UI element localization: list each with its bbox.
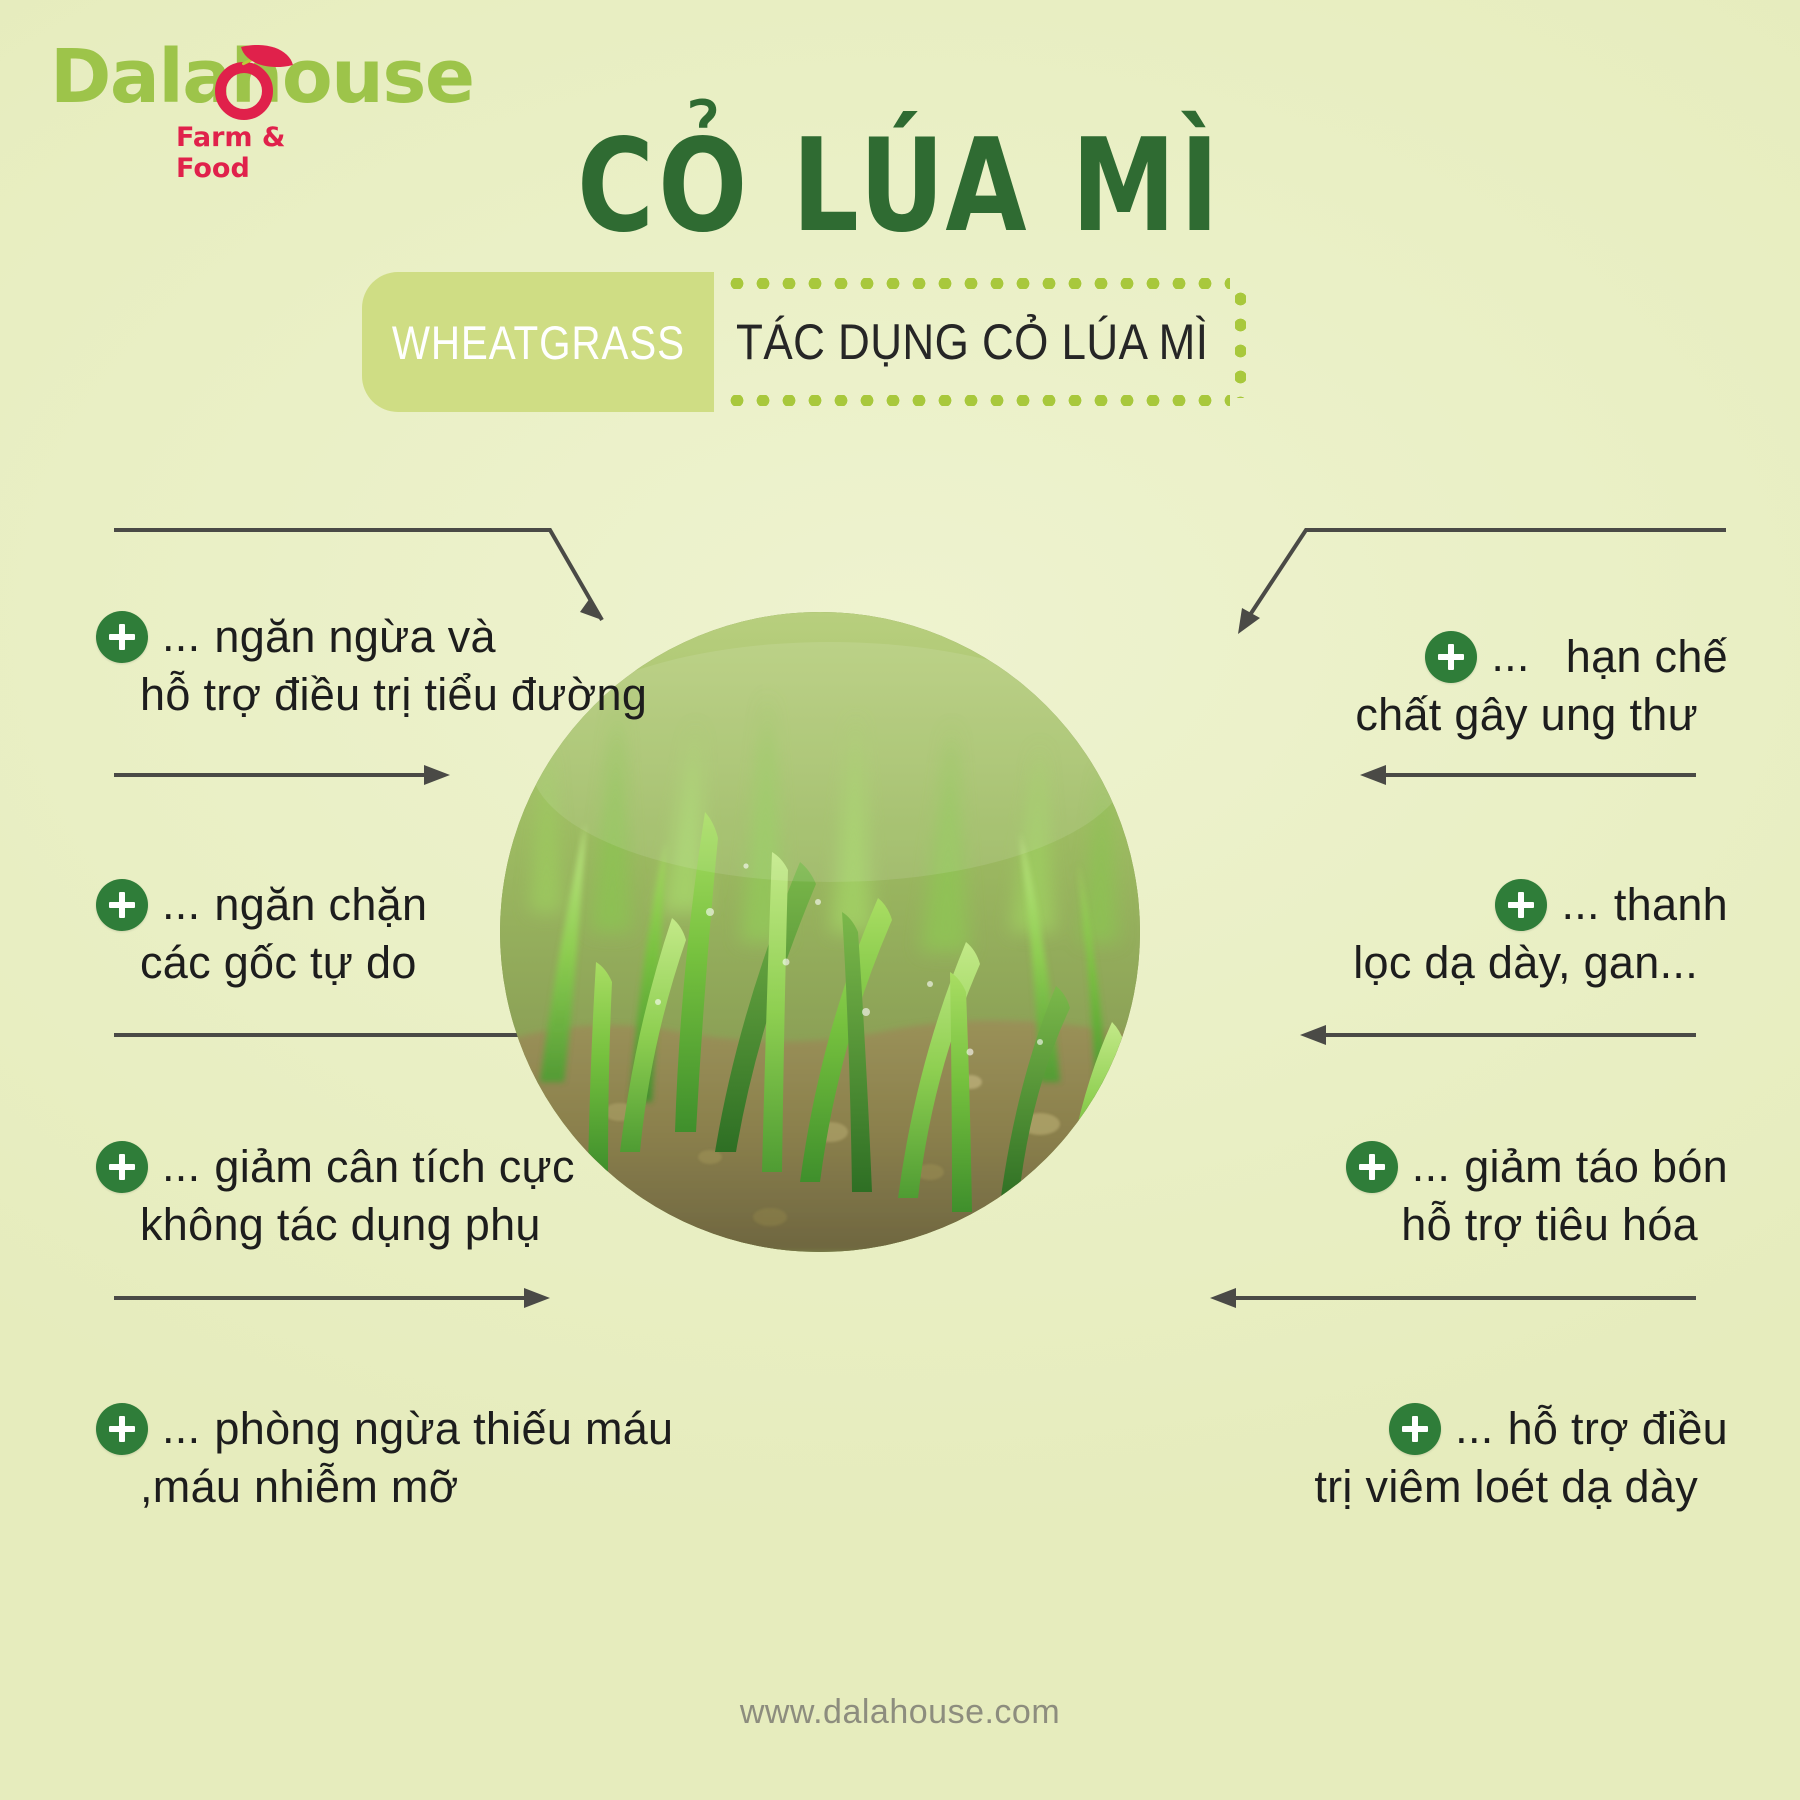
benefit-right-2-marker: ... xyxy=(1561,892,1599,917)
benefit-right-3: ... giảm táo bón hỗ trợ tiêu hóa xyxy=(1108,1138,1728,1253)
benefit-left-4-text1: phòng ngừa thiếu máu xyxy=(214,1400,673,1458)
benefit-right-1: ... hạn chế chất gây ung thư xyxy=(1108,628,1728,743)
benefit-right-4-line1: ... hỗ trợ điều xyxy=(1108,1400,1728,1458)
benefit-left-1-marker: ... xyxy=(162,624,200,649)
benefit-left-1-text1: ngăn ngừa và xyxy=(214,608,495,666)
plus-icon xyxy=(1495,879,1547,931)
connector-right-2 xyxy=(1340,745,1700,805)
benefit-left-1: ... ngăn ngừa và hỗ trợ điều trị tiểu đư… xyxy=(96,608,716,723)
plus-icon xyxy=(96,1403,148,1455)
benefit-left-2-marker: ... xyxy=(162,892,200,917)
plus-icon xyxy=(96,1141,148,1193)
plus-icon xyxy=(1389,1403,1441,1455)
benefit-right-1-text1: hạn chế xyxy=(1544,628,1728,686)
benefit-left-4-marker: ... xyxy=(162,1416,200,1441)
infographic-poster: Dalahouse Farm & Food CỎ LÚA MÌ TÁC DỤNG… xyxy=(0,0,1800,1800)
benefit-right-3-text2: hỗ trợ tiêu hóa xyxy=(1108,1196,1728,1254)
benefit-right-2-line1: ... thanh xyxy=(1108,876,1728,934)
connector-left-3 xyxy=(110,1005,570,1065)
subtitle-dotted-frame: TÁC DỤNG CỎ LÚA MÌ xyxy=(714,272,1252,412)
benefit-right-2-text1: thanh xyxy=(1614,876,1728,934)
benefit-left-4-text2: ,máu nhiễm mỡ xyxy=(96,1458,716,1516)
connector-left-4 xyxy=(110,1268,570,1328)
connector-right-3 xyxy=(1280,1005,1700,1065)
benefit-right-4: ... hỗ trợ điều trị viêm loét dạ dày xyxy=(1108,1400,1728,1515)
apple-icon xyxy=(215,62,273,120)
benefit-right-4-marker: ... xyxy=(1455,1416,1493,1441)
subtitle-text: TÁC DỤNG CỎ LÚA MÌ xyxy=(736,272,1208,412)
benefit-left-2-text1: ngăn chặn xyxy=(214,876,427,934)
plus-icon xyxy=(1346,1141,1398,1193)
footer-website[interactable]: www.dalahouse.com xyxy=(0,1693,1800,1732)
benefit-left-2-line1: ... ngăn chặn xyxy=(96,876,716,934)
benefit-right-2: ... thanh lọc dạ dày, gan... xyxy=(1108,876,1728,991)
plus-icon xyxy=(96,611,148,663)
benefit-right-4-text1: hỗ trợ điều xyxy=(1508,1400,1728,1458)
page-title: CỎ LÚA MÌ xyxy=(162,118,1638,256)
benefit-right-3-marker: ... xyxy=(1412,1154,1450,1179)
benefit-left-4: ... phòng ngừa thiếu máu ,máu nhiễm mỡ xyxy=(96,1400,716,1515)
plus-icon xyxy=(1425,631,1477,683)
wheatgrass-badge-label: WHEATGRASS xyxy=(391,315,684,370)
connector-left-2 xyxy=(110,745,470,805)
benefit-right-2-text2: lọc dạ dày, gan... xyxy=(1108,934,1728,992)
wheatgrass-badge: WHEATGRASS xyxy=(362,272,714,412)
plus-icon xyxy=(96,879,148,931)
benefit-left-1-text2: hỗ trợ điều trị tiểu đường xyxy=(96,666,716,724)
benefit-left-3-text1: giảm cân tích cực xyxy=(214,1138,574,1196)
benefit-left-2: ... ngăn chặn các gốc tự do xyxy=(96,876,716,991)
benefit-right-3-text1: giảm táo bón xyxy=(1464,1138,1728,1196)
benefit-left-3-text2: không tác dụng phụ xyxy=(96,1196,716,1254)
connector-right-4 xyxy=(1190,1268,1700,1328)
benefit-left-1-line1: ... ngăn ngừa và xyxy=(96,608,716,666)
benefit-left-3-marker: ... xyxy=(162,1154,200,1179)
benefit-right-4-text2: trị viêm loét dạ dày xyxy=(1108,1458,1728,1516)
benefit-left-3: ... giảm cân tích cực không tác dụng phụ xyxy=(96,1138,716,1253)
benefit-right-1-marker: ... xyxy=(1491,644,1529,669)
benefit-left-2-text2: các gốc tự do xyxy=(96,934,716,992)
subtitle-bar: TÁC DỤNG CỎ LÚA MÌ WHEATGRASS xyxy=(362,272,1252,412)
benefit-right-3-line1: ... giảm táo bón xyxy=(1108,1138,1728,1196)
benefit-right-1-text2: chất gây ung thư xyxy=(1108,686,1728,744)
benefit-right-1-line1: ... hạn chế xyxy=(1108,628,1728,686)
benefit-left-3-line1: ... giảm cân tích cực xyxy=(96,1138,716,1196)
benefit-left-4-line1: ... phòng ngừa thiếu máu xyxy=(96,1400,716,1458)
dotted-border-right xyxy=(1235,286,1246,398)
